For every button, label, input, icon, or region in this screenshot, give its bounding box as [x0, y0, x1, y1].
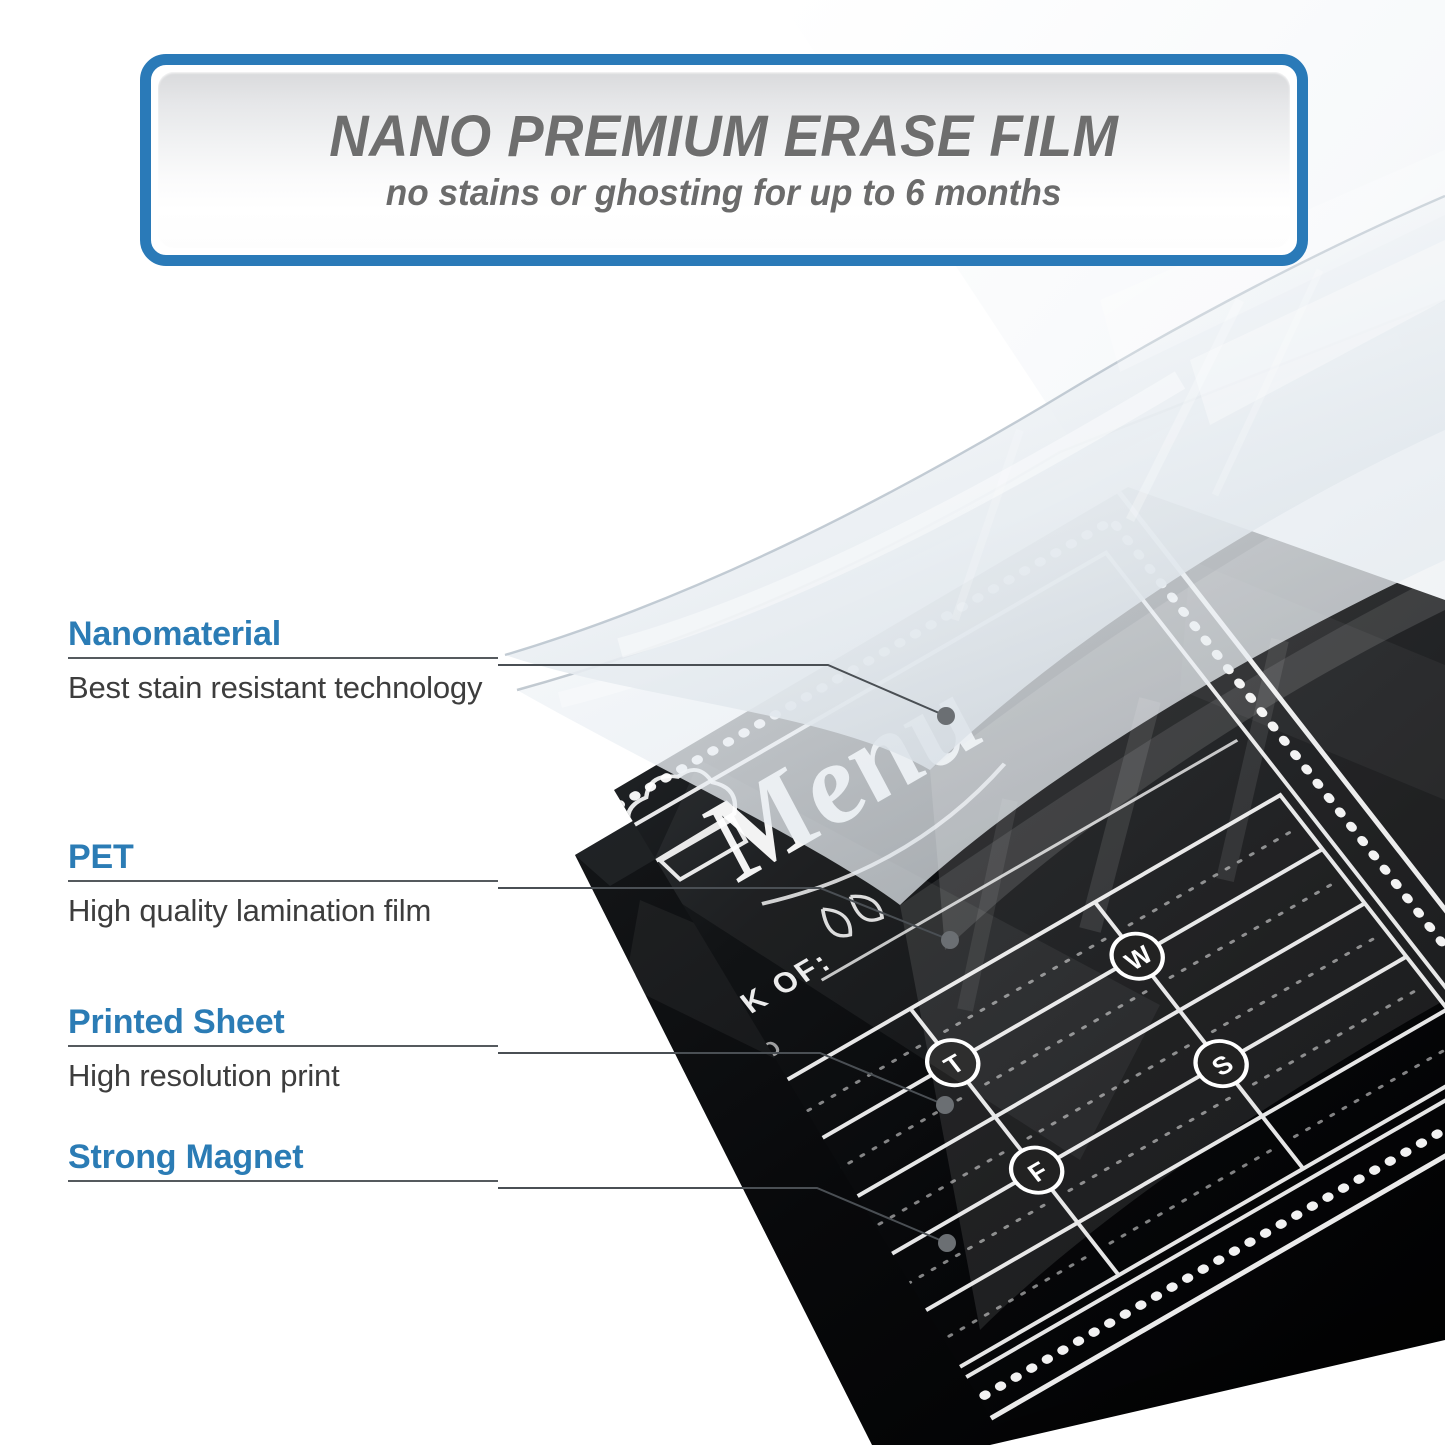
callout-rule-nanomaterial — [68, 657, 498, 659]
banner-title: NANO PREMIUM ERASE FILM — [329, 107, 1118, 168]
leader-lines — [498, 665, 950, 1243]
leader-line-pet — [498, 888, 950, 940]
callout-subtitle-pet: High quality lamination film — [68, 895, 498, 926]
svg-text:M: M — [751, 1154, 788, 1189]
pet-film-layer — [517, 300, 1445, 905]
day-markers: M T W T F — [733, 925, 1339, 1413]
callout-rule-strong-magnet — [68, 1180, 498, 1182]
callout-subtitle-printed-sheet: High resolution print — [68, 1060, 498, 1091]
printed-sheet-layer: Menu WEEK OF: JJPRO — [460, 470, 1445, 1445]
board-menu-script: Menu — [672, 654, 1005, 904]
leader-dot-strong-magnet — [938, 1234, 956, 1252]
product-infographic: Menu WEEK OF: JJPRO — [0, 0, 1445, 1445]
callout-subtitle-nanomaterial: Best stain resistant technology — [68, 672, 498, 703]
svg-text:T: T — [938, 1048, 970, 1080]
callout-title-strong-magnet: Strong Magnet — [68, 1140, 498, 1174]
svg-text:T: T — [837, 1262, 869, 1294]
callout-rule-printed-sheet — [68, 1045, 498, 1047]
svg-text:F: F — [1022, 1156, 1054, 1188]
svg-text:W: W — [1119, 940, 1159, 976]
header-banner-panel: NANO PREMIUM ERASE FILM no stains or gho… — [158, 72, 1290, 248]
callout-title-nanomaterial: Nanomaterial — [68, 617, 498, 651]
leader-dot-printed-sheet — [936, 1096, 954, 1114]
callout-nanomaterial: Nanomaterial Best stain resistant techno… — [68, 617, 498, 703]
leader-dots — [936, 707, 959, 1252]
svg-text:S: S — [919, 1367, 953, 1399]
leader-line-printed-sheet — [498, 1053, 945, 1105]
callout-pet: PET High quality lamination film — [68, 840, 498, 926]
magnet-layer — [575, 812, 1445, 1445]
callout-strong-magnet: Strong Magnet — [68, 1140, 498, 1182]
callout-title-printed-sheet: Printed Sheet — [68, 1005, 498, 1039]
banner-subtitle: no stains or ghosting for up to 6 months — [386, 174, 1062, 213]
leader-line-nanomaterial — [498, 665, 946, 716]
leader-dot-pet — [941, 931, 959, 949]
callout-rule-pet — [68, 880, 498, 882]
board-brand: JJPRO — [701, 1034, 788, 1095]
header-banner: NANO PREMIUM ERASE FILM no stains or gho… — [140, 54, 1308, 266]
film-drape-overlay — [900, 440, 1445, 1330]
svg-text:S: S — [1206, 1049, 1240, 1081]
callout-printed-sheet: Printed Sheet High resolution print — [68, 1005, 498, 1091]
leader-dot-nanomaterial — [937, 707, 955, 725]
callout-title-pet: PET — [68, 840, 498, 874]
board-week-of: WEEK OF: — [668, 945, 839, 1058]
leader-line-strong-magnet — [498, 1188, 947, 1243]
